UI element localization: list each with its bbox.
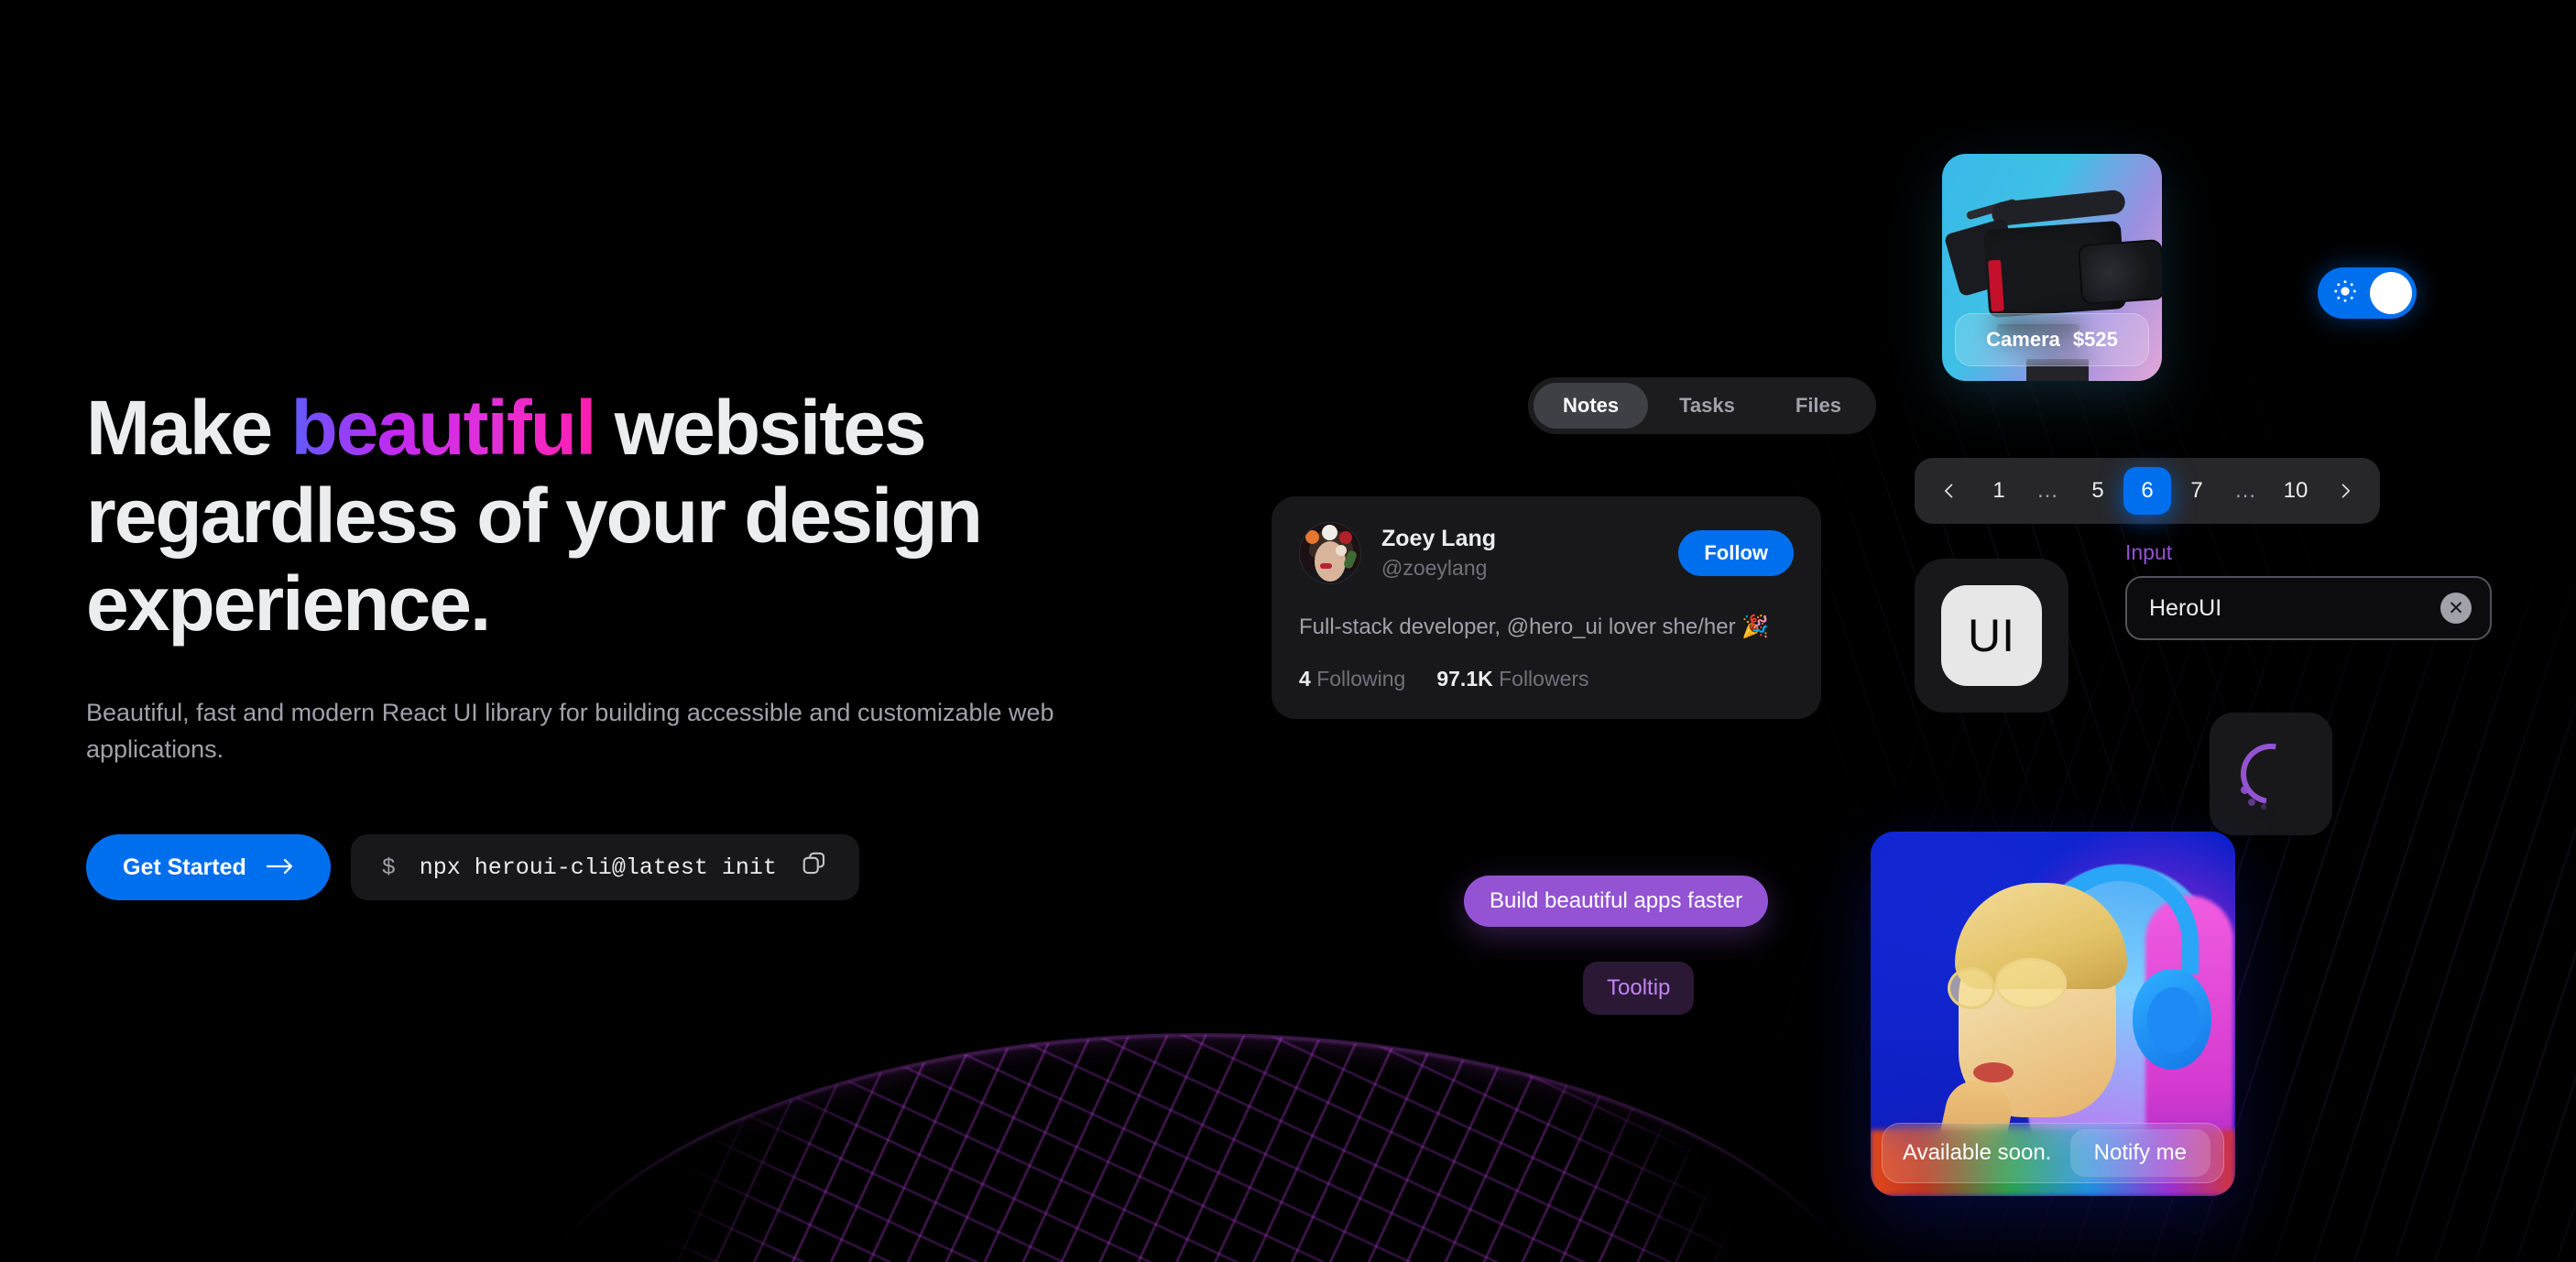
chevron-left-icon[interactable] [1926,467,1973,515]
input-value: HeroUI [2149,595,2431,622]
hero-subtitle: Beautiful, fast and modern React UI libr… [86,695,1130,768]
sun-icon [2332,278,2358,309]
followers-label: Followers [1499,667,1588,691]
spinner-card [2210,713,2332,835]
user-handle: @zoeylang [1381,556,1658,581]
page-10[interactable]: 10 [2272,467,2319,515]
get-started-button[interactable]: Get Started [86,834,331,900]
page-ellipsis-right[interactable]: … [2222,467,2270,515]
following-stat: 4 Following [1299,667,1405,691]
tooltip-trigger-button[interactable]: Tooltip [1583,962,1694,1015]
user-stats: 4 Following 97.1K Followers [1299,667,1794,691]
tooltip-bubble: Build beautiful apps faster [1464,876,1768,927]
get-started-label: Get Started [123,854,246,881]
arrow-right-icon [267,854,294,881]
input-label: Input [2125,540,2492,565]
install-command-text: npx heroui-cli@latest init [420,854,777,881]
user-card-header: Zoey Lang @zoeylang Follow [1299,522,1794,584]
camera-lens [2078,239,2162,305]
user-identity: Zoey Lang @zoeylang [1381,526,1658,581]
input-component: Input HeroUI ✕ [2125,540,2492,640]
headline-highlight: beautiful [290,385,595,471]
camera-card-footer: Camera $525 [1955,313,2149,366]
tabs-group: Notes Tasks Files [1528,377,1876,434]
background-mesh-glow [513,1033,1887,1262]
following-label: Following [1316,667,1405,691]
photo-lips [1973,1062,2014,1082]
theme-switch[interactable] [2318,267,2417,319]
camera-product-card[interactable]: Camera $525 [1942,154,2162,381]
switch-knob [2370,272,2412,314]
photo-product-card[interactable]: Available soon. Notify me [1871,832,2235,1196]
pagination: 1 … 5 6 7 … 10 [1915,458,2380,524]
page-5[interactable]: 5 [2074,467,2122,515]
ui-logo-mark: UI [1941,585,2042,686]
followers-count: 97.1K [1436,667,1492,691]
sunglasses-icon [1948,958,2067,1009]
hero-page: Make beautiful websites regardless of yo… [0,0,2576,1262]
camera-title: Camera [1986,328,2060,352]
headphones-cup-inner [2147,987,2200,1053]
user-name: Zoey Lang [1381,526,1658,552]
followers-stat: 97.1K Followers [1436,667,1588,691]
page-6-active[interactable]: 6 [2123,467,2171,515]
chevron-right-icon[interactable] [2321,467,2369,515]
follow-button[interactable]: Follow [1678,530,1794,576]
install-command-snippet[interactable]: $ npx heroui-cli@latest init [351,834,859,900]
page-title: Make beautiful websites regardless of yo… [86,385,1167,647]
tab-notes[interactable]: Notes [1534,383,1648,429]
search-input[interactable]: HeroUI ✕ [2125,576,2492,640]
spinner-icon [2241,744,2301,804]
shell-prompt: $ [382,854,396,881]
copy-icon[interactable] [801,850,828,885]
tab-files[interactable]: Files [1766,383,1871,429]
headline-part-1: Make [86,385,290,471]
following-count: 4 [1299,667,1311,691]
camera-price: $525 [2073,328,2118,352]
hero-section: Make beautiful websites regardless of yo… [86,385,1167,900]
clear-icon[interactable]: ✕ [2440,593,2472,624]
user-profile-card: Zoey Lang @zoeylang Follow Full-stack de… [1272,496,1821,719]
availability-text: Available soon. [1903,1140,2061,1166]
page-ellipsis-left[interactable]: … [2025,467,2072,515]
photo-card-footer: Available soon. Notify me [1882,1123,2224,1183]
page-7[interactable]: 7 [2173,467,2221,515]
notify-me-button[interactable]: Notify me [2070,1129,2210,1177]
ui-logo-card: UI [1915,559,2068,713]
cta-row: Get Started $ npx heroui-cli@latest init [86,834,1167,900]
avatar [1299,522,1361,584]
tab-tasks[interactable]: Tasks [1650,383,1764,429]
page-1[interactable]: 1 [1975,467,2023,515]
user-bio: Full-stack developer, @hero_ui lover she… [1299,612,1794,643]
